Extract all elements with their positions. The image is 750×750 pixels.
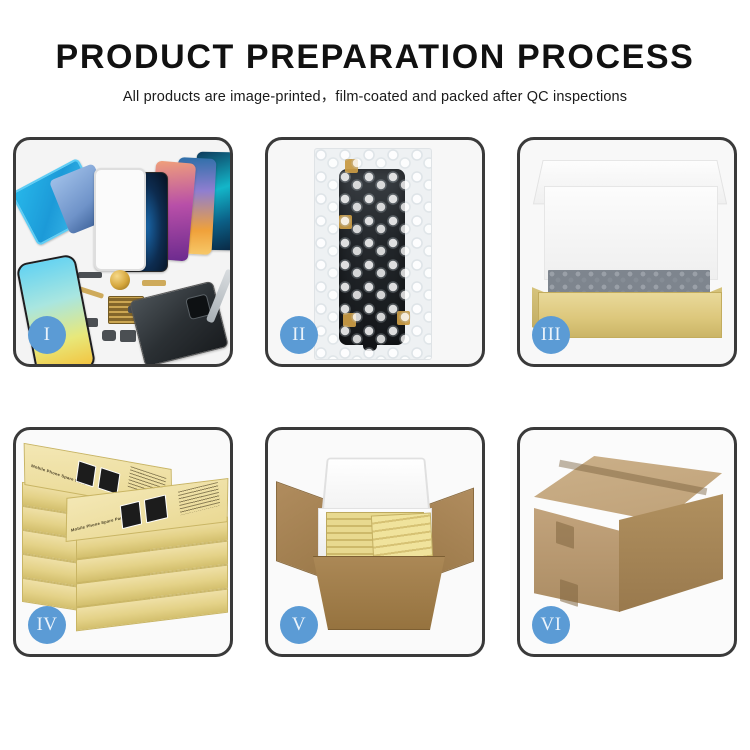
yellow-boxes-inside [371, 512, 433, 561]
step-panel-6: VI [517, 427, 737, 657]
product-preparation-process-page: PRODUCT PREPARATION PROCESS All products… [0, 0, 750, 750]
step-badge-2: II [280, 316, 318, 354]
small-part [78, 272, 102, 278]
clear-bubble-bag [314, 148, 432, 360]
step-badge-5: V [280, 606, 318, 644]
bubble-texture [315, 149, 431, 359]
small-part [102, 330, 116, 341]
process-steps-grid: I II [13, 137, 737, 657]
box-inner-back-foam [544, 186, 718, 280]
phone-back-cover [129, 281, 229, 364]
page-title: PRODUCT PREPARATION PROCESS [0, 40, 750, 76]
step-panel-2: II [265, 137, 485, 367]
step-panel-3: III [517, 137, 737, 367]
step-badge-1: I [28, 316, 66, 354]
gold-coil-part [110, 270, 130, 290]
screen-glass-panel [94, 168, 146, 271]
header: PRODUCT PREPARATION PROCESS All products… [0, 40, 750, 106]
page-subtitle: All products are image-printed，film-coat… [0, 85, 750, 106]
step-badge-4: IV [28, 606, 66, 644]
small-part [120, 330, 136, 342]
step-panel-4: Mobile Phone Spare Parts Mobile Phone Sp… [13, 427, 233, 657]
box-label-text: Mobile Phone Spare Parts [71, 514, 127, 532]
carton-body [304, 556, 454, 630]
flex-cable [142, 280, 166, 286]
box-window [120, 501, 142, 529]
box-window [144, 494, 168, 523]
step-panel-5: V [265, 427, 485, 657]
box-spec-lines [178, 482, 220, 515]
step-badge-3: III [532, 316, 570, 354]
carton-tape-patch [560, 579, 578, 607]
step-badge-6: VI [532, 606, 570, 644]
step-panel-1: I [13, 137, 233, 367]
